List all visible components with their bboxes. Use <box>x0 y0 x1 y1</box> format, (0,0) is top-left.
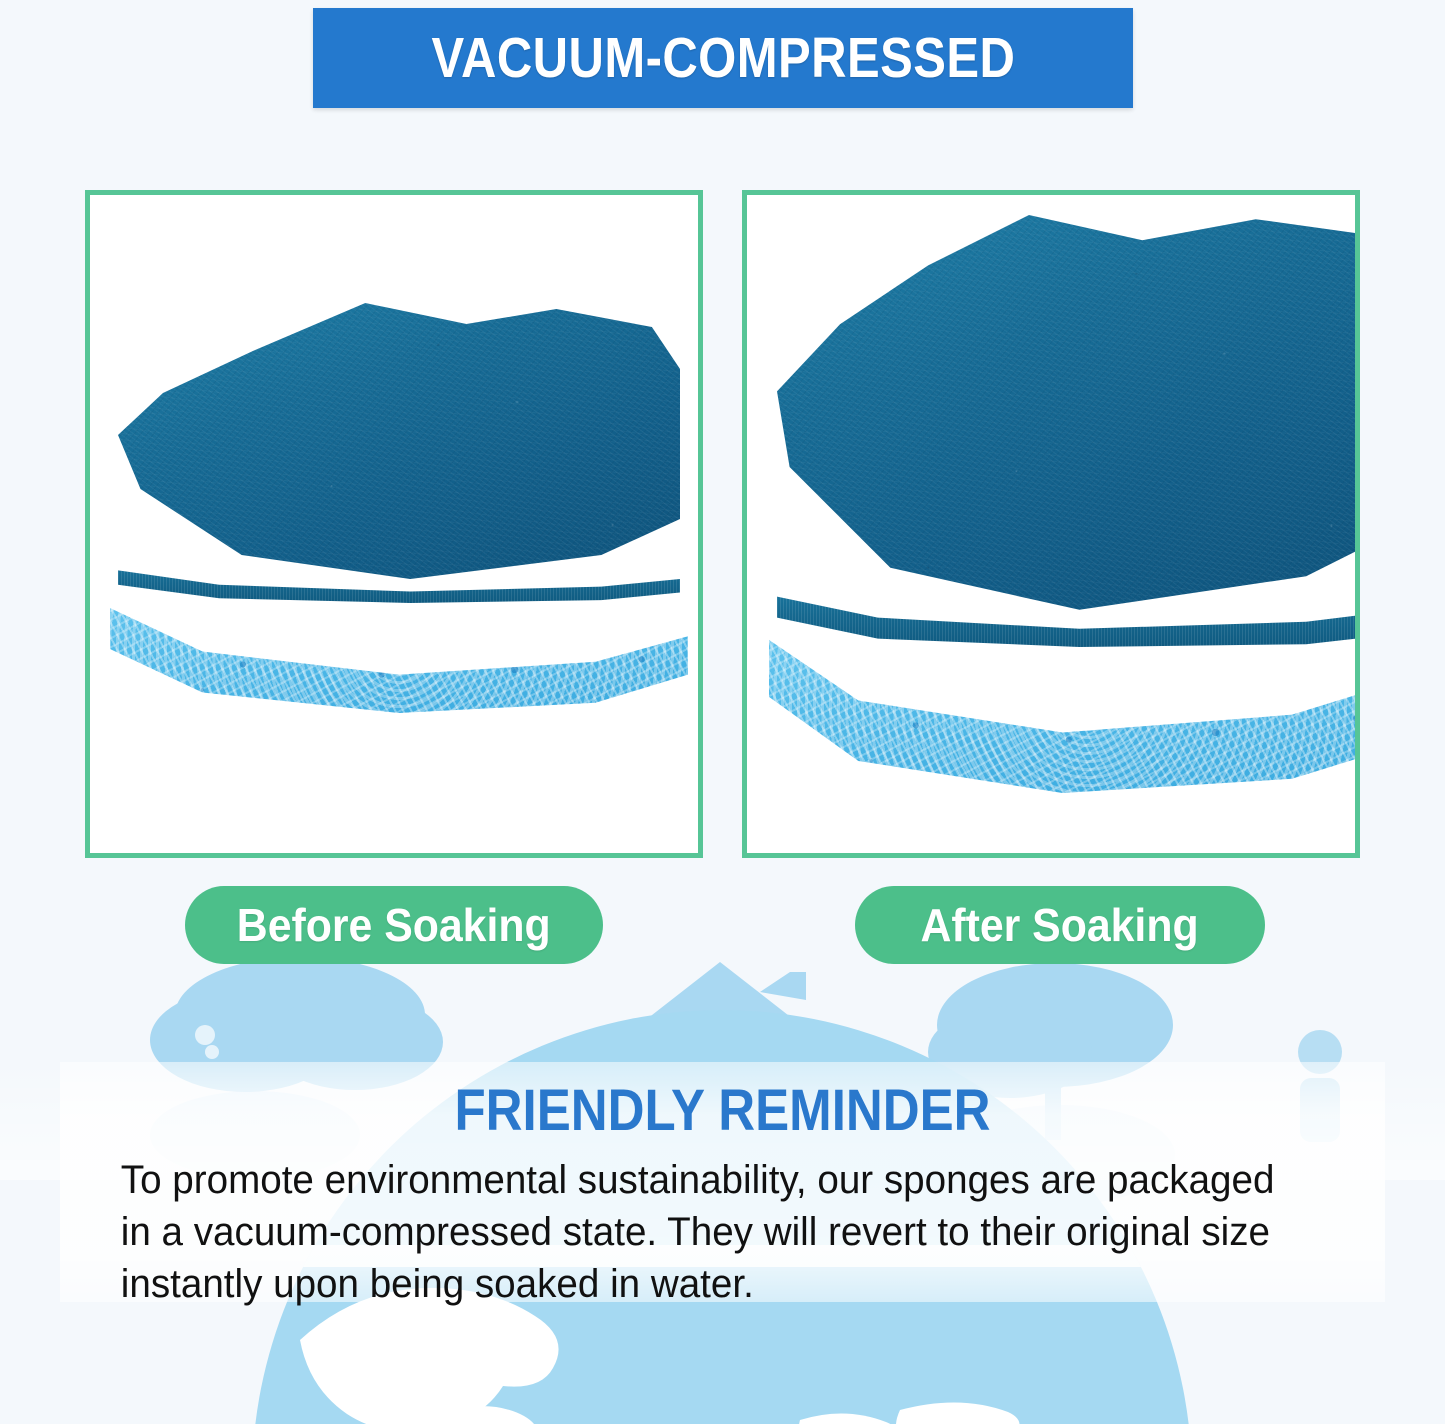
banner-title: VACUUM-COMPRESSED <box>431 25 1015 91</box>
sponge-compressed-illustration <box>100 285 695 765</box>
caption-pill-after: After Soaking <box>855 886 1265 964</box>
header-banner: VACUUM-COMPRESSED <box>313 8 1133 108</box>
foam-layer <box>110 585 688 713</box>
bush-silhouette-icon <box>150 957 443 1092</box>
scrub-pad-surface <box>118 303 680 603</box>
sponge-photo-before <box>90 195 698 853</box>
reminder-section: FRIENDLY REMINDER To promote environment… <box>0 1082 1445 1310</box>
sponge-expanded-illustration <box>767 205 1360 825</box>
scrub-pad-surface <box>777 215 1360 635</box>
caption-pill-before: Before Soaking <box>185 886 603 964</box>
photo-frame-before <box>85 190 703 858</box>
caption-label-after: After Soaking <box>921 898 1199 952</box>
reminder-body-text: To promote environmental sustainability,… <box>115 1154 1287 1310</box>
infographic-root: VACUUM-COMPRESSED <box>0 0 1445 1424</box>
comparison-row <box>85 190 1360 858</box>
photo-frame-after <box>742 190 1360 858</box>
reminder-heading: FRIENDLY REMINDER <box>87 1082 1359 1140</box>
sponge-photo-after <box>747 195 1355 853</box>
caption-label-before: Before Soaking <box>237 898 551 952</box>
